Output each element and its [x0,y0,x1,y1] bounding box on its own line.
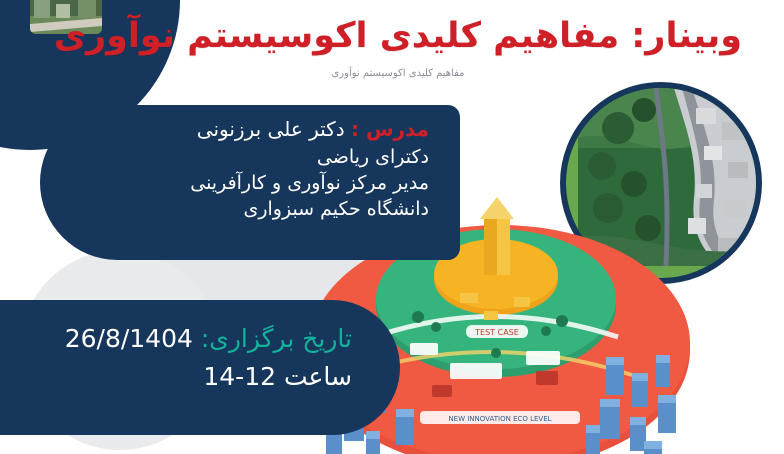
date-info: تاریخ برگزاری: 26/8/1404 ساعت 12-14 [8,320,378,395]
time-value: 12-14 [203,362,276,391]
speaker-org: دانشگاه حکیم سبزواری [66,196,429,222]
speaker-name-line: مدرس : دکتر علی برزنونی [66,116,429,144]
time-line: ساعت 12-14 [34,358,352,396]
date-line: تاریخ برگزاری: 26/8/1404 [34,320,352,358]
speaker-info: مدرس : دکتر علی برزنونی دکترای ریاضی مدی… [40,110,455,260]
svg-text:NEW INNOVATION ECO LEVEL: NEW INNOVATION ECO LEVEL [448,415,551,423]
svg-text:TEST CASE: TEST CASE [474,328,519,337]
date-label: تاریخ برگزاری: [201,324,352,353]
time-label: ساعت [284,362,352,391]
speaker-degree: دکترای ریاضی [66,144,429,170]
speaker-label: مدرس : [351,117,429,141]
poster-canvas: وبینار: مفاهیم کلیدی اکوسیستم نوآوری مفا… [0,0,784,454]
speaker-role: مدیر مرکز نوآوری و کارآفرینی [66,170,429,196]
page-subtitle: مفاهیم کلیدی اکوسیستم نوآوری [28,68,768,79]
page-title: وبینار: مفاهیم کلیدی اکوسیستم نوآوری [28,16,768,56]
date-value: 26/8/1404 [65,324,193,353]
speaker-name: دکتر علی برزنونی [197,117,345,141]
